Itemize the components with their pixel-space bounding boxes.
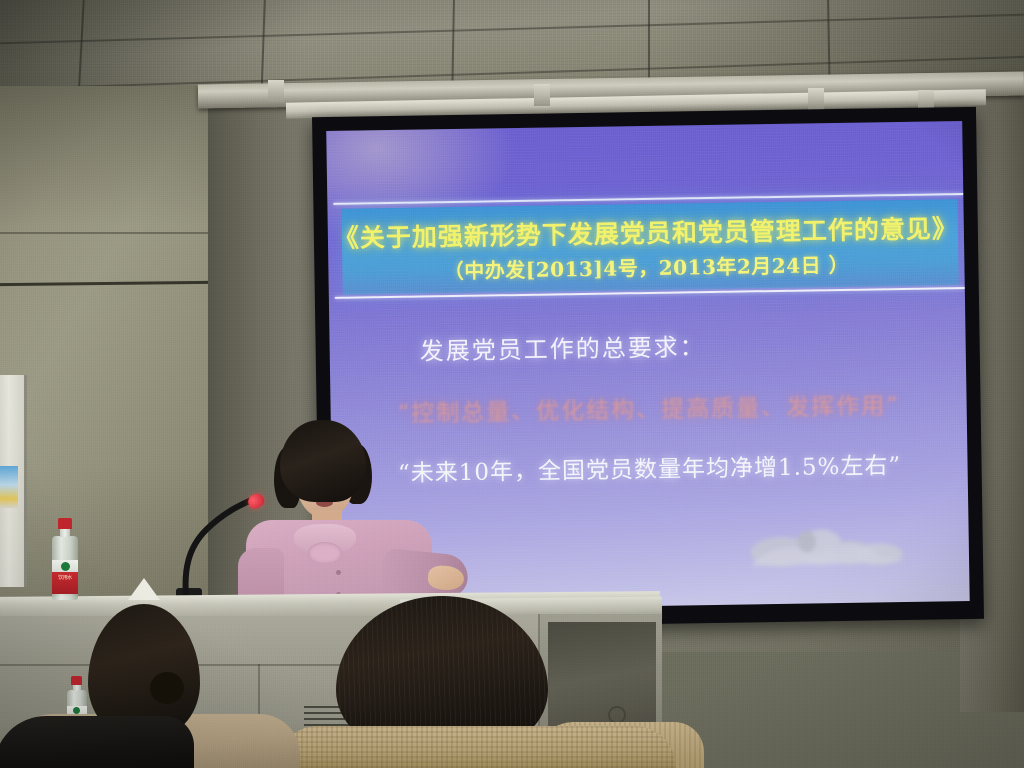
speaker-button [336, 570, 341, 575]
water-bottle: 饮用水 [50, 518, 80, 600]
slide-decorative-graphic [746, 510, 917, 571]
speaker-hair [280, 420, 366, 502]
podium-open-shelf [548, 622, 656, 732]
bottle-neck [73, 684, 81, 691]
speaker-blouse-bow [308, 542, 342, 564]
bottle-label-logo [73, 707, 80, 714]
speaker-person [232, 420, 462, 620]
bottle-brand-text: 饮用水 [53, 575, 77, 581]
name-card [128, 578, 160, 600]
photograph-scene: 《关于加强新形势下发展党员和党员管理工作的意见》 （中办发[2013]4号，20… [0, 0, 1024, 768]
chair-back-black [0, 716, 194, 768]
bottle-label-logo [61, 562, 70, 571]
screen-mount-bracket [534, 84, 550, 106]
screen-mount-bracket [808, 88, 824, 110]
bottle-neck [60, 528, 70, 537]
bottle-cap [71, 676, 82, 685]
chair-back [276, 726, 676, 768]
audience-hair-bun [150, 672, 184, 704]
slide-heading: 发展党员工作的总要求： [329, 323, 965, 368]
wall-trim-line [0, 232, 208, 234]
screen-mount-bracket [268, 80, 284, 102]
bottle-cap [58, 518, 72, 529]
wall-sticker [0, 466, 18, 508]
